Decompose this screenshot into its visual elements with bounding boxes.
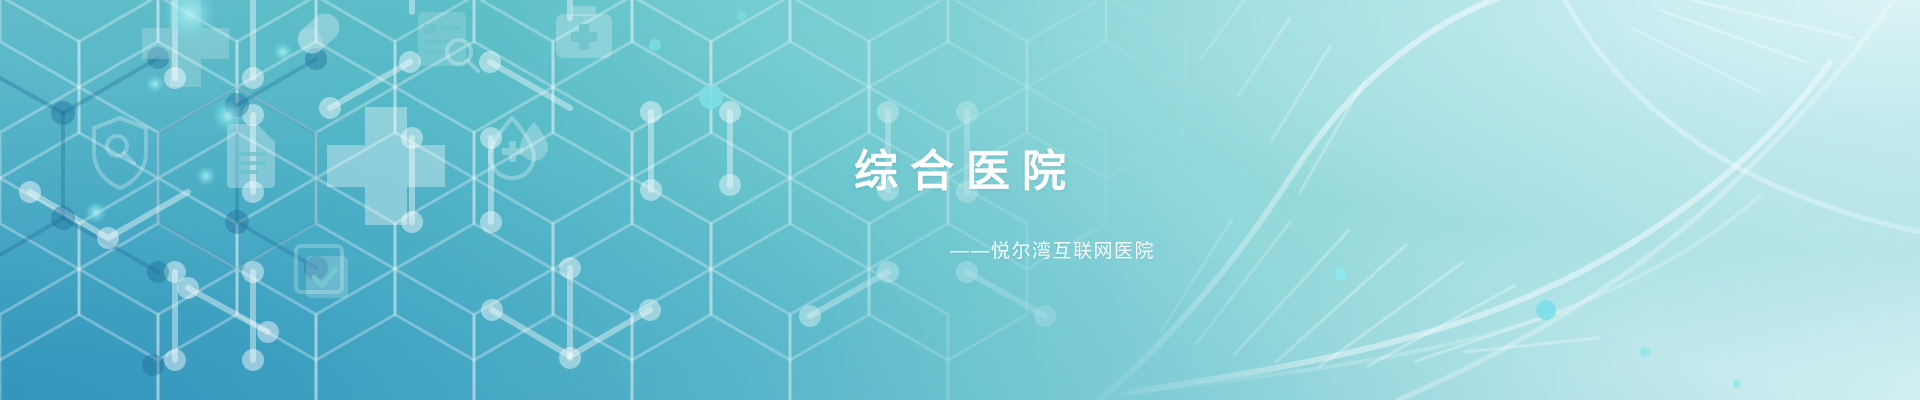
page-subtitle: ——悦尔湾互联网医院 <box>950 242 1155 261</box>
page-title: 综合医院 <box>842 150 1078 194</box>
hospital-banner: 综合医院 ——悦尔湾互联网医院 <box>0 0 1920 400</box>
banner-text-block: 综合医院 ——悦尔湾互联网医院 <box>0 0 1920 400</box>
